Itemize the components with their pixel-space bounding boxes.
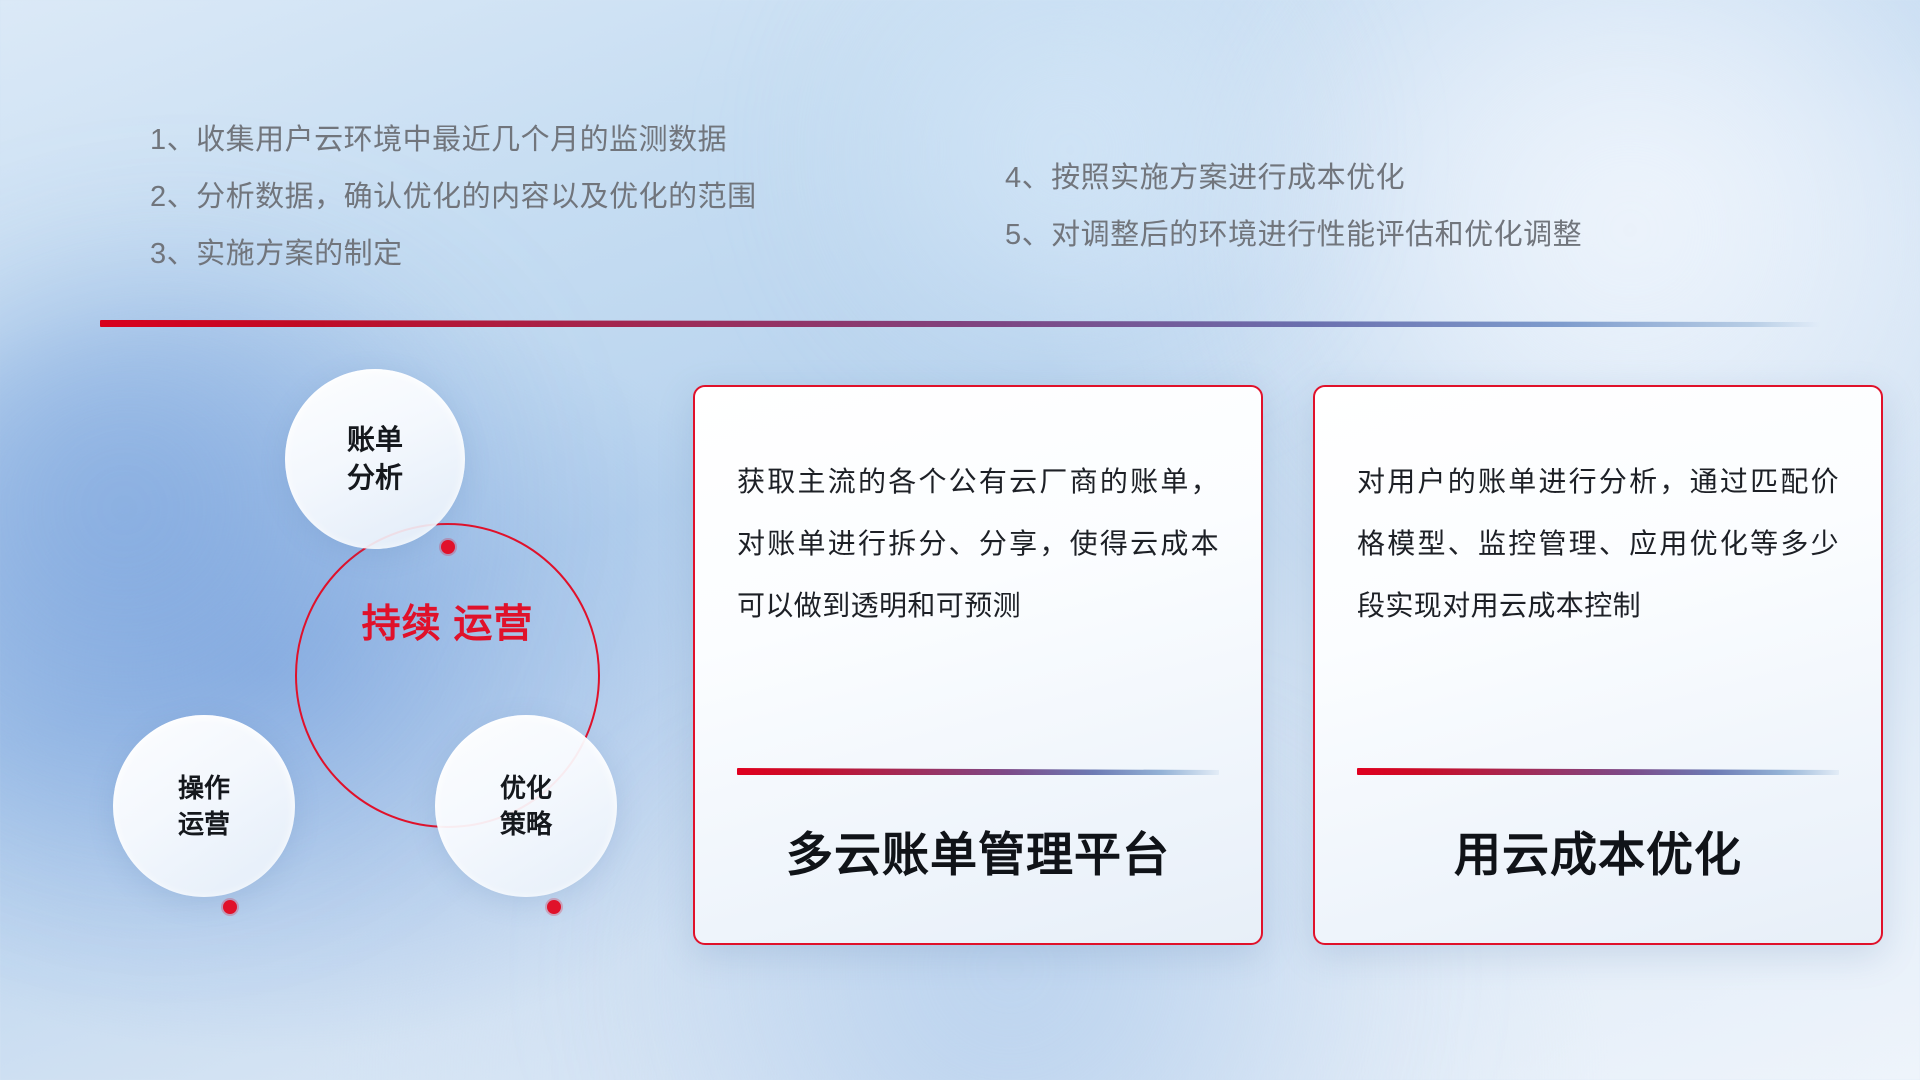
cycle-dot-top-icon	[441, 540, 455, 554]
steps-list-right: 4、按照实施方案进行成本优化 5、对调整后的环境进行性能评估和优化调整	[1005, 150, 1582, 264]
cycle-diagram: 账单 分析 操作 运营 优化 策略 持续 运营	[95, 355, 655, 955]
cycle-dot-left-icon	[223, 900, 237, 914]
step-item-5: 5、对调整后的环境进行性能评估和优化调整	[1005, 207, 1582, 264]
diagram-node-operation[interactable]: 操作 运营	[113, 715, 295, 897]
card-title: 多云账单管理平台	[737, 816, 1219, 885]
step-item-1: 1、收集用户云环境中最近几个月的监测数据	[150, 112, 757, 169]
section-divider-rule	[100, 320, 1820, 327]
center-label-line1: 持续	[362, 603, 442, 646]
step-item-2: 2、分析数据，确认优化的内容以及优化的范围	[150, 169, 757, 226]
feature-card-cost-optimization[interactable]: 对用户的账单进行分析，通过匹配价格模型、监控管理、应用优化等多少段实现对用云成本…	[1313, 385, 1883, 945]
card-title: 用云成本优化	[1357, 816, 1839, 885]
feature-card-multicloud-billing[interactable]: 获取主流的各个公有云厂商的账单，对账单进行拆分、分享，使得云成本可以做到透明和可…	[693, 385, 1263, 945]
cycle-center-label: 持续 运营	[295, 600, 600, 650]
card-divider-rule	[737, 768, 1219, 775]
steps-list-left: 1、收集用户云环境中最近几个月的监测数据 2、分析数据，确认优化的内容以及优化的…	[150, 112, 757, 283]
center-label-line2: 运营	[453, 603, 533, 646]
node-label-line1: 账单	[347, 421, 403, 459]
node-label-line1: 优化	[500, 770, 552, 806]
diagram-node-optimization[interactable]: 优化 策略	[435, 715, 617, 897]
node-label-line2: 策略	[500, 806, 552, 842]
node-label-line1: 操作	[178, 770, 230, 806]
node-label-line2: 分析	[347, 459, 403, 497]
card-body-text: 获取主流的各个公有云厂商的账单，对账单进行拆分、分享，使得云成本可以做到透明和可…	[737, 451, 1219, 637]
step-item-4: 4、按照实施方案进行成本优化	[1005, 150, 1582, 207]
card-divider-rule	[1357, 768, 1839, 775]
cycle-dot-right-icon	[547, 900, 561, 914]
card-body-text: 对用户的账单进行分析，通过匹配价格模型、监控管理、应用优化等多少段实现对用云成本…	[1357, 451, 1839, 637]
node-label-line2: 运营	[178, 806, 230, 842]
step-item-3: 3、实施方案的制定	[150, 226, 757, 283]
diagram-node-bill-analysis[interactable]: 账单 分析	[285, 369, 465, 549]
